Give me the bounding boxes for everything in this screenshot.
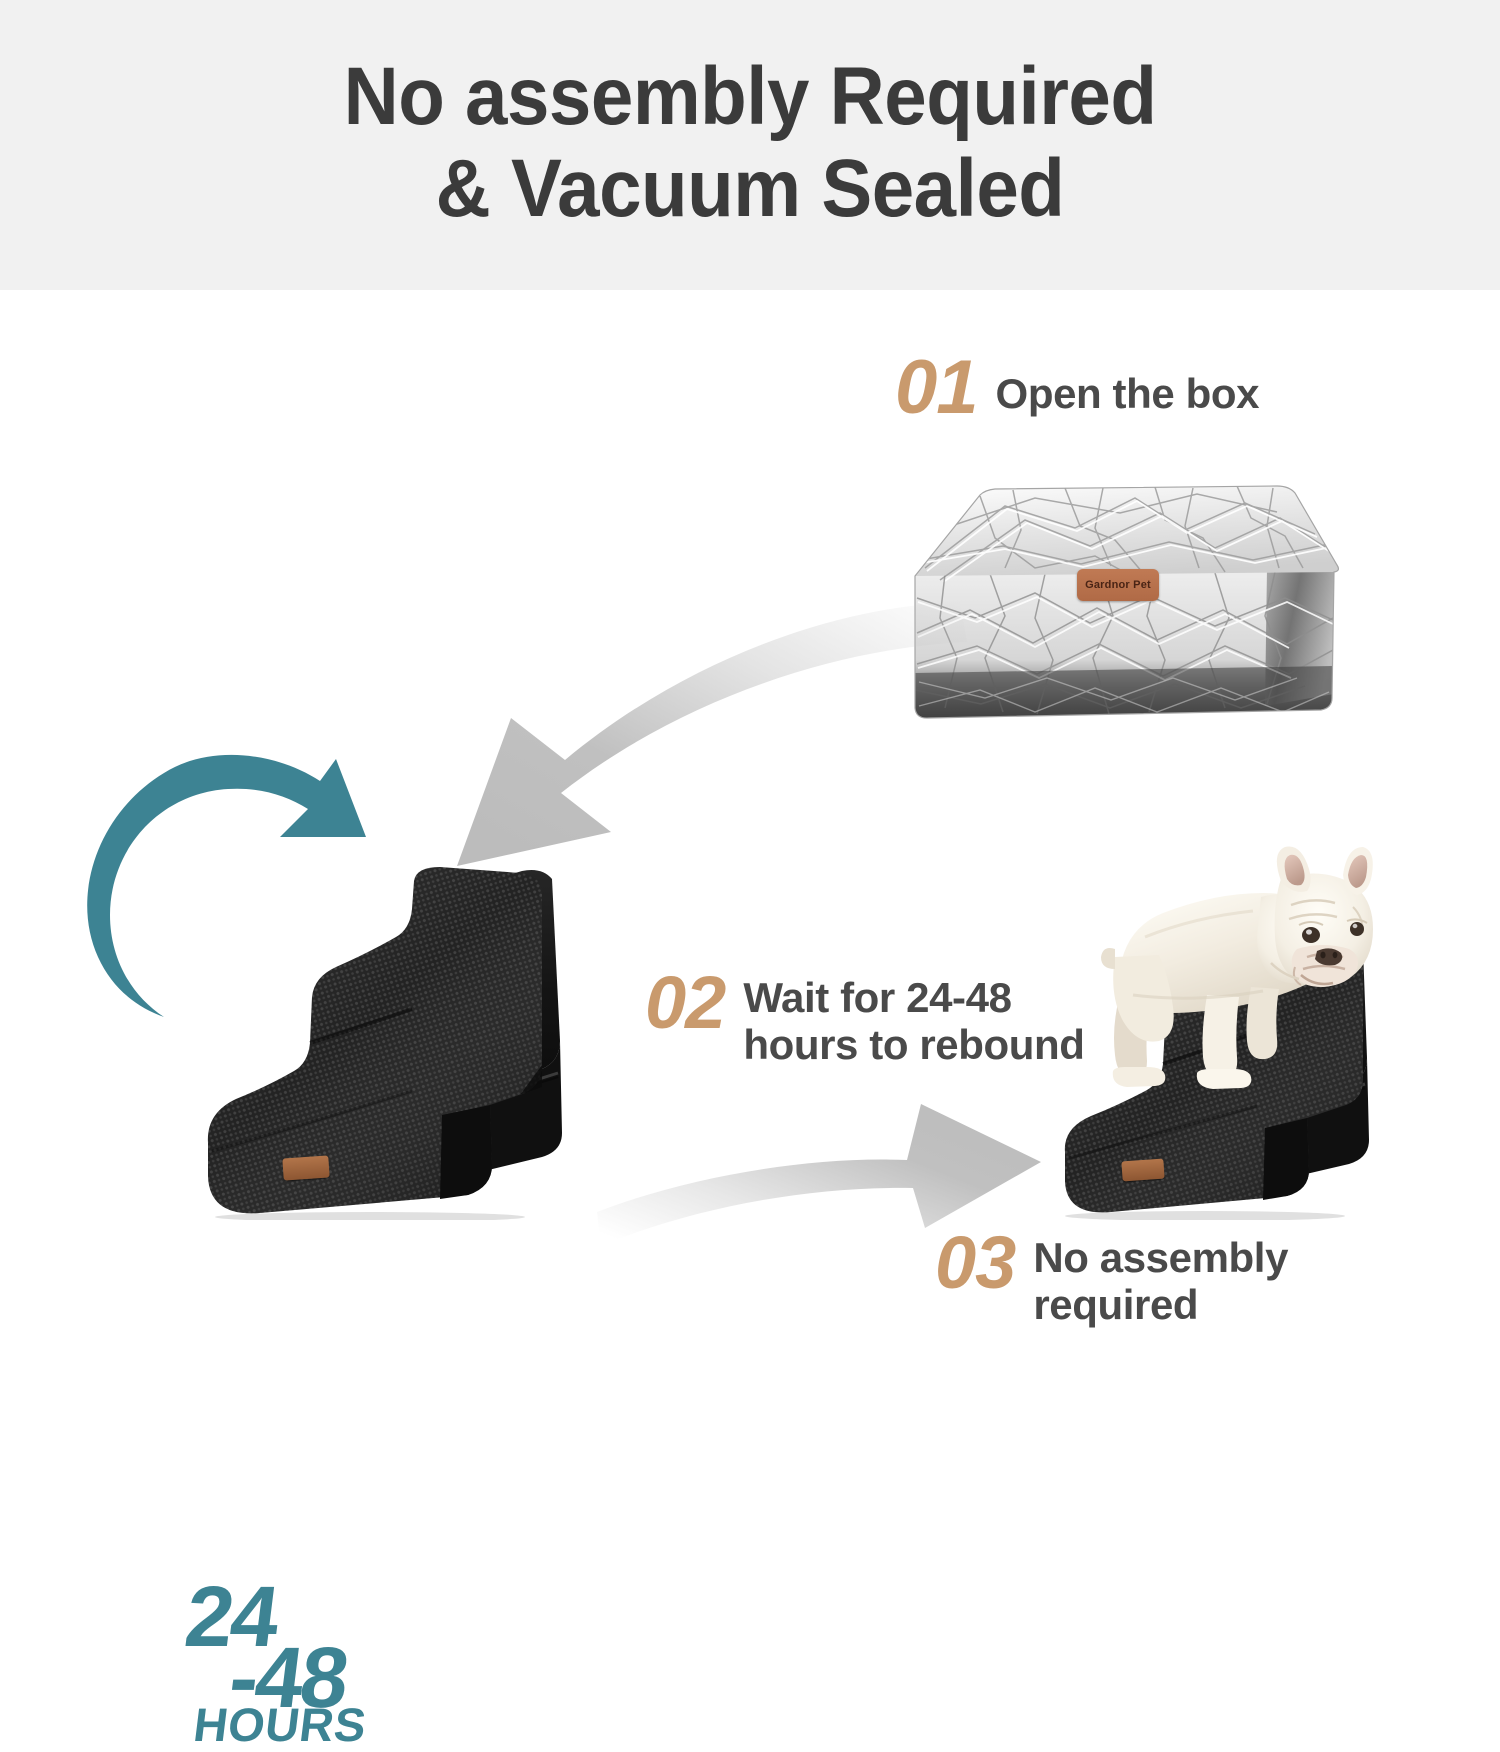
page-title-line2: & Vacuum Sealed (344, 148, 1157, 230)
step-text-03: No assembly required (1033, 1234, 1288, 1328)
arrow-box-to-stairs-icon (415, 600, 975, 870)
header-band: No assembly Required & Vacuum Sealed (0, 0, 1500, 290)
step-caption-01: 01 Open the box (895, 352, 1259, 424)
brand-tag-stairs-right (1121, 1159, 1164, 1182)
badge-unit-label: HOURS (191, 1697, 370, 1752)
step-number-02: 02 (645, 968, 725, 1038)
brand-tag-stairs-left (282, 1155, 329, 1180)
step-caption-02: 02 Wait for 24-48 hours to rebound (645, 968, 1085, 1068)
page-title: No assembly Required & Vacuum Sealed (344, 56, 1157, 230)
brand-tag-package: Gardnor Pet (1077, 569, 1159, 601)
pet-stairs-image-left (190, 865, 610, 1220)
page-title-line1: No assembly Required (344, 56, 1157, 138)
step-text-01: Open the box (996, 370, 1260, 417)
step-number-01: 01 (895, 352, 978, 424)
infographic-canvas: No assembly Required & Vacuum Sealed 01 … (0, 0, 1500, 1323)
step-caption-03: 03 No assembly required (935, 1228, 1288, 1328)
step-text-02: Wait for 24-48 hours to rebound (743, 974, 1084, 1068)
step-number-03: 03 (935, 1228, 1015, 1298)
french-bulldog-image (1085, 845, 1385, 1105)
